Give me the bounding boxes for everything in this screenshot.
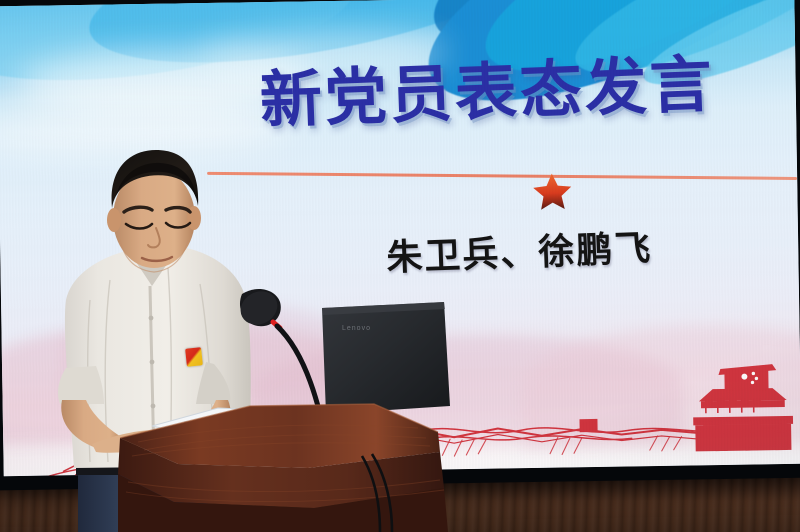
- paper-sheets: [148, 396, 338, 452]
- presentation-photo: 新党员表态发言 朱卫兵、徐鹏飞: [0, 0, 800, 532]
- slide-subtitle: 朱卫兵、徐鹏飞: [385, 219, 653, 281]
- projection-screen-frame: 新党员表态发言 朱卫兵、徐鹏飞: [0, 0, 800, 490]
- red-star-icon: [530, 169, 575, 214]
- projection-screen: 新党员表态发言 朱卫兵、徐鹏飞: [0, 0, 800, 476]
- great-wall-artwork: [2, 338, 800, 477]
- party-emblem-badge-icon: [185, 347, 203, 367]
